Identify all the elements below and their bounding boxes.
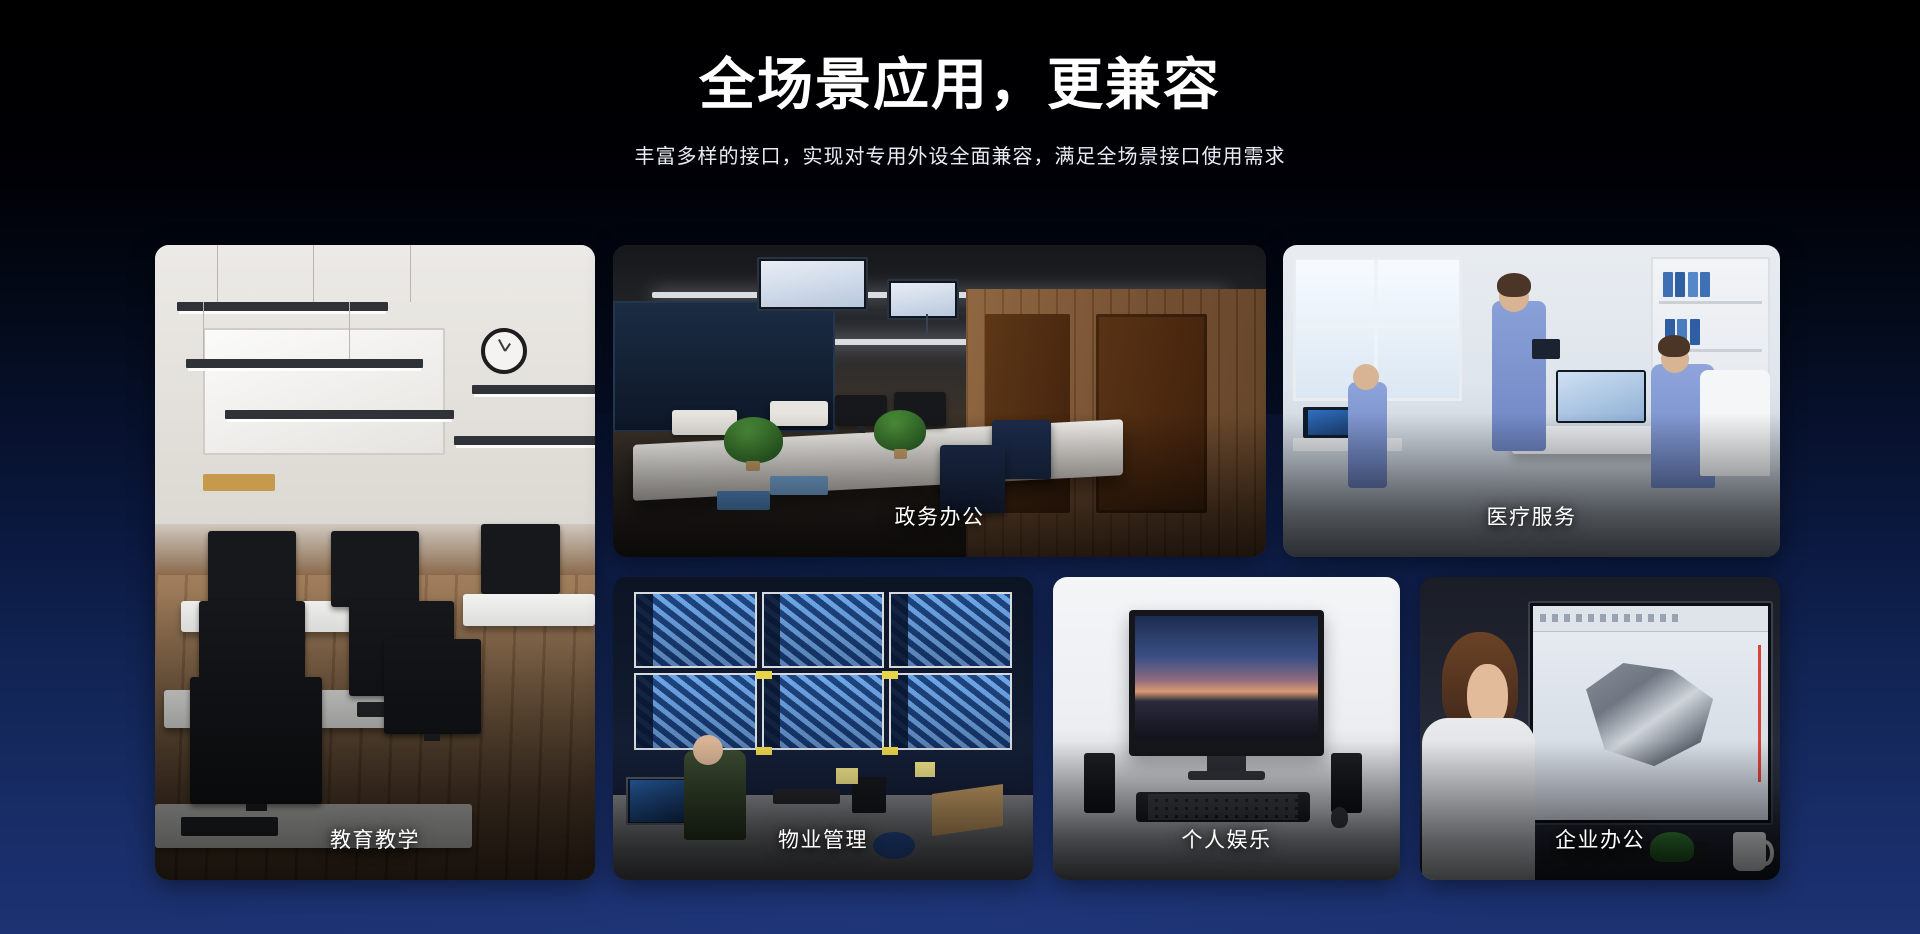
keyboard	[1136, 792, 1310, 822]
wall-clock-icon	[481, 328, 527, 374]
cad-monitor	[1528, 601, 1773, 825]
page-header: 全场景应用，更兼容 丰富多样的接口，实现对专用外设全面兼容，满足全场景接口使用需…	[0, 0, 1920, 169]
scenario-caption-entertainment: 个人娱乐	[1053, 824, 1400, 854]
page-title: 全场景应用，更兼容	[0, 52, 1920, 118]
desktop-monitor	[1129, 610, 1323, 755]
office-chair	[1700, 370, 1770, 476]
scenario-caption-education: 教育教学	[155, 824, 595, 854]
scenario-card-education[interactable]: 教育教学	[155, 245, 595, 880]
wall-display	[757, 257, 868, 310]
scenario-card-medical[interactable]: 医疗服务	[1283, 245, 1780, 557]
scenario-card-enterprise[interactable]: 企业办公	[1420, 577, 1780, 880]
scenario-caption-government: 政务办公	[613, 501, 1266, 531]
scenario-grid: 教育教学	[155, 245, 1780, 880]
education-classroom-image	[155, 245, 595, 880]
scenario-card-property[interactable]: 物业管理	[613, 577, 1033, 880]
scenario-caption-enterprise: 企业办公	[1420, 824, 1780, 854]
scenario-caption-medical: 医疗服务	[1283, 501, 1780, 531]
wall-display	[887, 279, 959, 320]
scenario-caption-property: 物业管理	[613, 824, 1033, 854]
scenario-card-entertainment[interactable]: 个人娱乐	[1053, 577, 1400, 880]
scenario-card-government[interactable]: 政务办公	[613, 245, 1266, 557]
page-subtitle: 丰富多样的接口，实现对专用外设全面兼容，满足全场景接口使用需求	[0, 140, 1920, 169]
scenario-showcase-page: 全场景应用，更兼容 丰富多样的接口，实现对专用外设全面兼容，满足全场景接口使用需…	[0, 0, 1920, 934]
